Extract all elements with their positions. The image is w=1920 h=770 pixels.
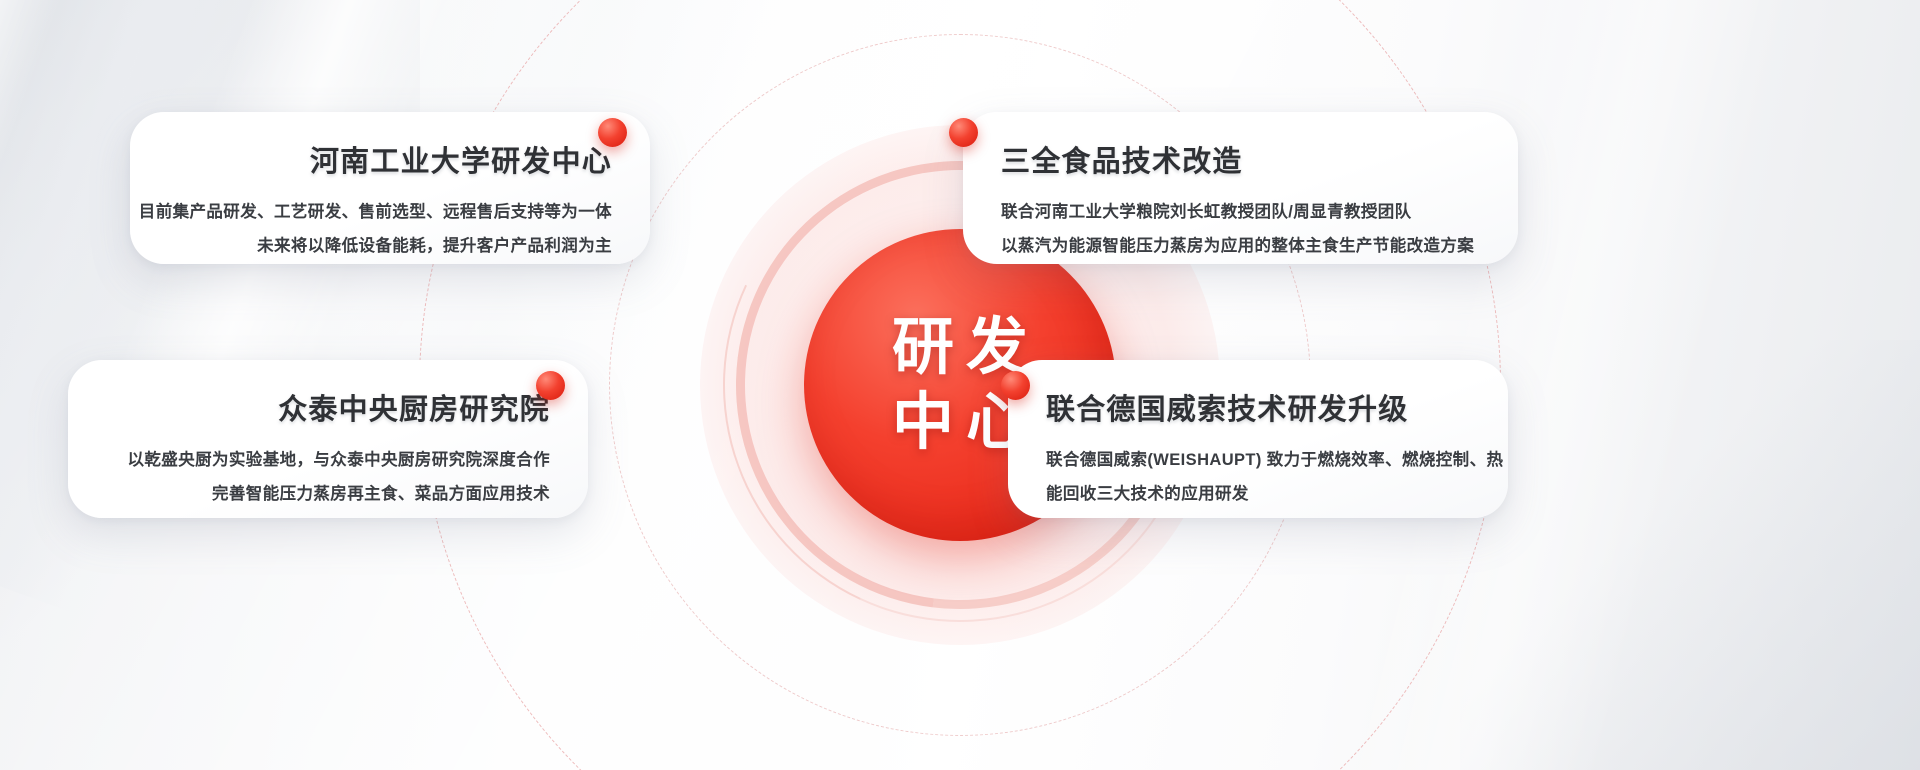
- card-henan-university-of-technology-rd-center[interactable]: 河南工业大学研发中心 目前集产品研发、工艺研发、售前选型、远程售后支持等为一体 …: [130, 112, 650, 264]
- card-title: 众泰中央厨房研究院: [278, 386, 550, 428]
- background-corner-shade-right: [1460, 340, 1920, 770]
- card-weishaupt-joint-rd-upgrade[interactable]: 联合德国威索技术研发升级 联合德国威索(WEISHAUPT) 致力于燃烧效率、燃…: [1008, 360, 1508, 518]
- card-body-line: 以乾盛央厨为实验基地，与众泰中央厨房研究院深度合作: [128, 444, 551, 478]
- card-title: 三全食品技术改造: [1001, 138, 1243, 180]
- card-body-line: 联合德国威索(WEISHAUPT) 致力于燃烧效率、燃烧控制、热: [1046, 444, 1503, 478]
- card-body-line: 未来将以降低设备能耗，提升客户产品利润为主: [257, 230, 612, 264]
- card-sanquan-food-technology-upgrade[interactable]: 三全食品技术改造 联合河南工业大学粮院刘长虹教授团队/周显青教授团队 以蒸汽为能…: [963, 112, 1518, 264]
- card-title: 河南工业大学研发中心: [310, 138, 612, 180]
- connector-dot-icon: [598, 118, 627, 147]
- card-body-line: 完善智能压力蒸房再主食、菜品方面应用技术: [212, 478, 550, 512]
- connector-dot-icon: [1001, 371, 1030, 400]
- card-body-line: 联合河南工业大学粮院刘长虹教授团队/周显青教授团队: [1001, 196, 1412, 230]
- card-body-line: 能回收三大技术的应用研发: [1046, 478, 1249, 512]
- rd-center-infographic: 研发 中心 河南工业大学研发中心 目前集产品研发、工艺研发、售前选型、远程售后支…: [0, 0, 1920, 770]
- background-light-streak: [0, 0, 336, 612]
- card-zhongtai-central-kitchen-institute[interactable]: 众泰中央厨房研究院 以乾盛央厨为实验基地，与众泰中央厨房研究院深度合作 完善智能…: [68, 360, 588, 518]
- card-title: 联合德国威索技术研发升级: [1046, 386, 1408, 428]
- connector-dot-icon: [949, 118, 978, 147]
- card-body-line: 以蒸汽为能源智能压力蒸房为应用的整体主食生产节能改造方案: [1001, 230, 1474, 264]
- card-body-line: 目前集产品研发、工艺研发、售前选型、远程售后支持等为一体: [139, 196, 612, 230]
- connector-dot-icon: [536, 371, 565, 400]
